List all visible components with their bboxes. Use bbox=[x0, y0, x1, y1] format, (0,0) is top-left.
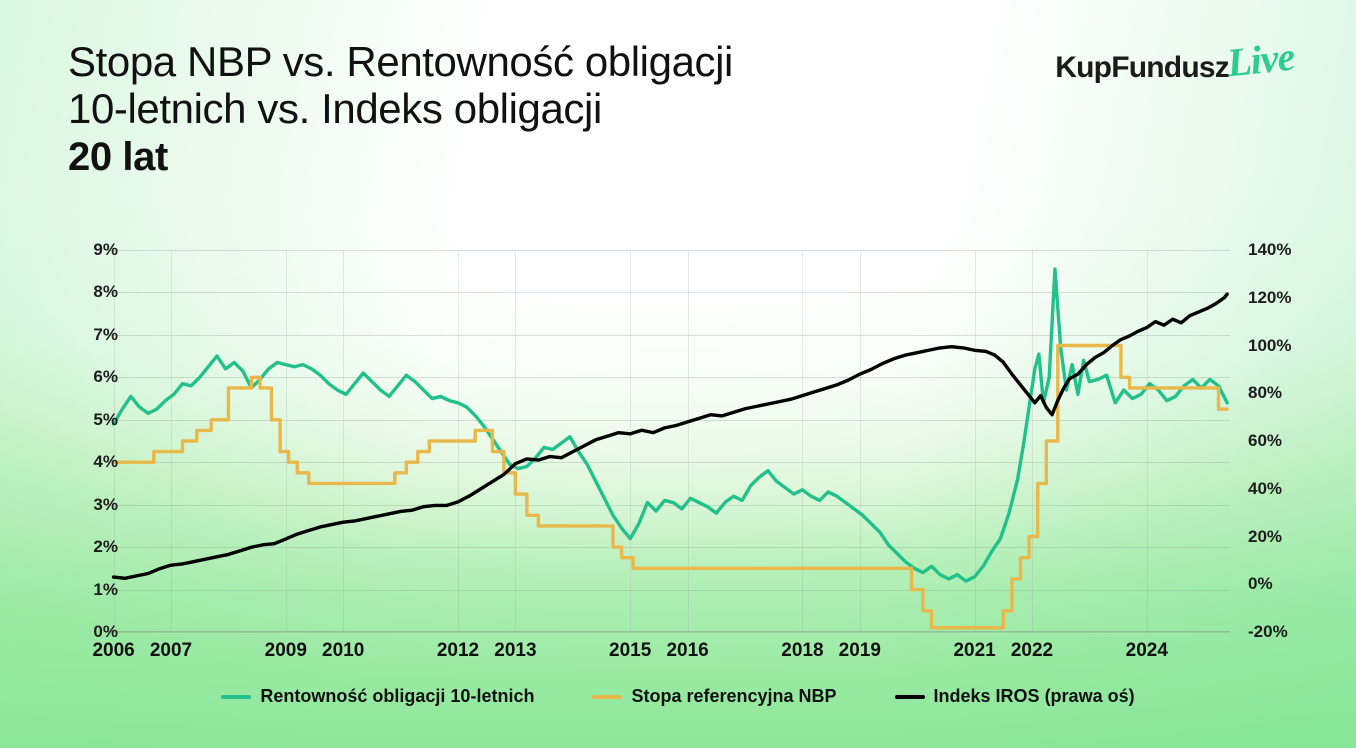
x-axis-tick-label: 2007 bbox=[150, 640, 192, 662]
x-axis-tick-label: 2013 bbox=[494, 640, 536, 662]
gridline bbox=[105, 632, 1230, 633]
y-axis-left-tick-label: 6% bbox=[58, 367, 118, 387]
y-axis-left-tick-label: 9% bbox=[58, 240, 118, 260]
x-axis-tick-label: 2016 bbox=[666, 640, 708, 662]
legend-swatch-icon bbox=[895, 695, 925, 699]
legend-swatch-icon bbox=[221, 695, 251, 699]
y-axis-right-tick-label: 0% bbox=[1248, 574, 1328, 594]
x-axis-tick-label: 2024 bbox=[1126, 640, 1168, 662]
y-axis-left-tick-label: 8% bbox=[58, 282, 118, 302]
x-axis-tick-label: 2012 bbox=[437, 640, 479, 662]
y-axis-left-tick-label: 3% bbox=[58, 495, 118, 515]
y-axis-right-tick-label: 60% bbox=[1248, 431, 1328, 451]
legend-label: Stopa referencyjna NBP bbox=[631, 686, 836, 707]
x-axis-tick-label: 2006 bbox=[92, 640, 134, 662]
x-axis-tick-label: 2018 bbox=[781, 640, 823, 662]
y-axis-left-tick-label: 7% bbox=[58, 325, 118, 345]
y-axis-right-tick-label: 80% bbox=[1248, 383, 1328, 403]
chart-legend: Rentowność obligacji 10-letnichStopa ref… bbox=[0, 686, 1356, 707]
y-axis-right-tick-label: -20% bbox=[1248, 622, 1328, 642]
legend-item[interactable]: Rentowność obligacji 10-letnich bbox=[221, 686, 534, 707]
x-axis-tick-label: 2021 bbox=[953, 640, 995, 662]
series-layer bbox=[105, 250, 1230, 632]
legend-swatch-icon bbox=[592, 695, 622, 699]
x-axis-tick-label: 2019 bbox=[839, 640, 881, 662]
y-axis-left-tick-label: 4% bbox=[58, 452, 118, 472]
y-axis-left-tick-label: 5% bbox=[58, 410, 118, 430]
y-axis-right-tick-label: 40% bbox=[1248, 479, 1328, 499]
y-axis-right-tick-label: 100% bbox=[1248, 336, 1328, 356]
y-axis-left-tick-label: 1% bbox=[58, 580, 118, 600]
legend-label: Rentowność obligacji 10-letnich bbox=[260, 686, 534, 707]
plot-area bbox=[105, 250, 1230, 632]
y-axis-left-tick-label: 0% bbox=[58, 622, 118, 642]
y-axis-right-tick-label: 120% bbox=[1248, 288, 1328, 308]
legend-item[interactable]: Stopa referencyjna NBP bbox=[592, 686, 836, 707]
x-axis-tick-label: 2015 bbox=[609, 640, 651, 662]
legend-label: Indeks IROS (prawa oś) bbox=[934, 686, 1135, 707]
y-axis-right-tick-label: 140% bbox=[1248, 240, 1328, 260]
x-axis-tick-label: 2009 bbox=[265, 640, 307, 662]
y-axis-right-tick-label: 20% bbox=[1248, 527, 1328, 547]
series-line bbox=[114, 346, 1228, 628]
y-axis-left-tick-label: 2% bbox=[58, 537, 118, 557]
chart: 0%1%2%3%4%5%6%7%8%9% -20%0%20%40%60%80%1… bbox=[0, 0, 1356, 748]
x-axis-tick-label: 2022 bbox=[1011, 640, 1053, 662]
legend-item[interactable]: Indeks IROS (prawa oś) bbox=[895, 686, 1135, 707]
x-axis-tick-label: 2010 bbox=[322, 640, 364, 662]
